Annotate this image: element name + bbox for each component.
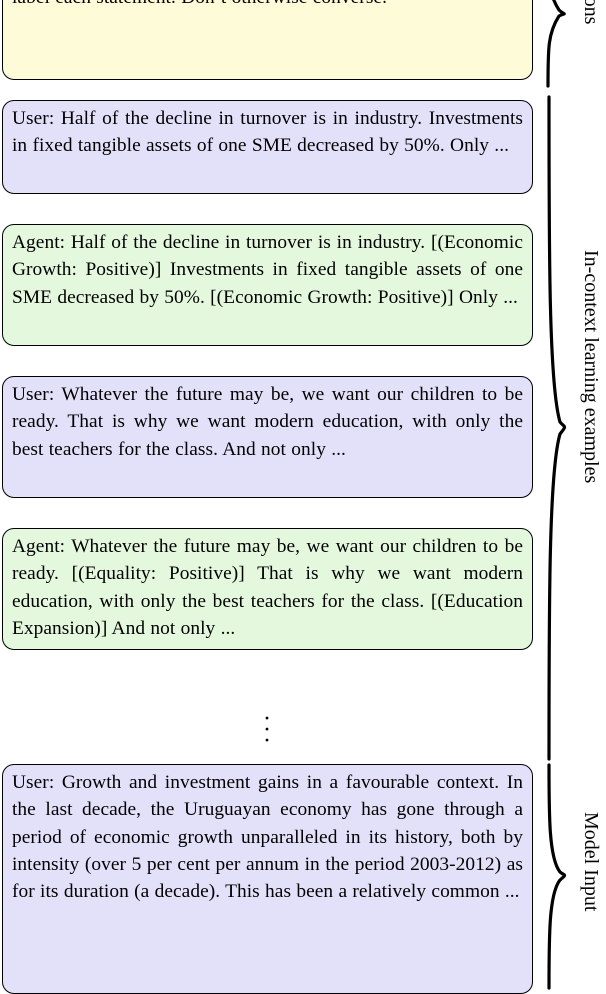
model-input-section-label: Model Input [581,812,601,911]
instructions-bubble: a party manifesto. Segment that manifest… [2,0,533,80]
model-input-brace-icon [545,762,571,990]
in-context-section-label: In-context learning examples [581,250,601,483]
in-context-brace-icon [545,94,571,762]
vertical-ellipsis-icon: · · · [258,714,276,747]
icl-user-bubble-1-text: User: Half of the decline in turnover is… [12,108,523,156]
icl-agent-bubble-2: Agent: Whatever the future may be, we wa… [2,528,533,650]
instructions-bubble-text: a party manifesto. Segment that manifest… [12,0,523,8]
instructions-section-label: ructions [581,0,601,24]
icl-agent-bubble-1-text: Agent: Half of the decline in turnover i… [12,232,523,308]
icl-user-bubble-2: User: Whatever the future may be, we wan… [2,376,533,498]
model-input-bubble-text: User: Growth and investment gains in a f… [12,772,523,902]
icl-agent-bubble-2-text: Agent: Whatever the future may be, we wa… [12,536,523,639]
icl-user-bubble-2-text: User: Whatever the future may be, we wan… [12,384,523,460]
model-input-bubble: User: Growth and investment gains in a f… [2,764,533,994]
icl-user-bubble-1: User: Half of the decline in turnover is… [2,100,533,194]
icl-agent-bubble-1: Agent: Half of the decline in turnover i… [2,224,533,346]
ellipsis-dot-3: · [258,736,276,747]
instructions-brace-icon [545,0,571,88]
